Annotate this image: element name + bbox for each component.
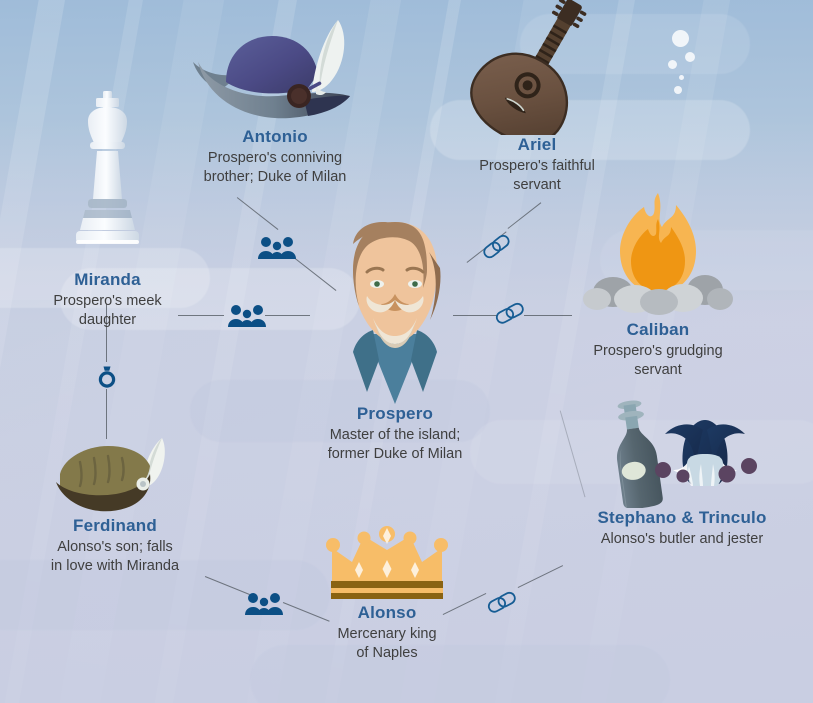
bubble-icon [685,52,695,62]
character-caliban[interactable]: Caliban Prospero's grudging servant [563,185,753,379]
relationship-icon-love-miranda-ferdinand [97,365,117,394]
character-alonso[interactable]: Alonso Mercenary king of Naples [292,518,482,662]
character-name: Antonio [180,127,370,147]
character-name: Caliban [563,320,753,340]
character-name: Alonso [292,603,482,623]
family-group-icon [228,304,266,328]
character-name: Stephano & Trinculo [552,508,812,528]
character-antonio[interactable]: Antonio Prospero's conniving brother; Du… [180,12,370,186]
character-desc: Master of the island; former Duke of Mil… [290,426,500,463]
white-chess-king-icon [58,85,158,270]
character-desc: Prospero's grudging servant [563,342,753,379]
bottle-and-jester-hat-icon [587,398,777,508]
relationship-icon-family-ferdinand-alonso [245,592,283,621]
family-group-icon [245,592,283,616]
plumed-hat-icon [188,12,363,127]
character-desc: Mercenary king of Naples [292,625,482,662]
character-desc: Prospero's meek daughter [10,292,205,329]
bubble-icon [679,75,684,80]
character-name: Ariel [442,135,632,155]
infographic-canvas: Miranda Prospero's meek daughter [0,0,813,703]
lute-icon [445,0,630,135]
relationship-icon-family-miranda-prospero [228,304,266,333]
character-name: Prospero [290,404,500,424]
bubble-icon [668,60,677,69]
character-desc: Prospero's conniving brother; Duke of Mi… [180,149,370,186]
feathered-cap-icon [40,436,190,516]
character-ariel[interactable]: Ariel Prospero's faithful servant [442,0,632,194]
character-stephano-trinculo[interactable]: Stephano & Trinculo Alonso's butler and … [552,398,812,549]
gold-crown-icon [322,518,452,603]
character-desc: Alonso's butler and jester [552,530,812,549]
character-miranda[interactable]: Miranda Prospero's meek daughter [10,85,205,329]
campfire-icon [583,185,733,320]
bubble-icon [672,30,689,47]
character-ferdinand[interactable]: Ferdinand Alonso's son; falls in love wi… [20,436,210,575]
character-desc: Alonso's son; falls in love with Miranda [20,538,210,575]
ring-icon [97,365,117,389]
bubble-icon [674,86,682,94]
character-name: Ferdinand [20,516,210,536]
bearded-man-portrait-icon [325,222,465,404]
character-prospero[interactable]: Prospero Master of the island; former Du… [290,222,500,463]
character-name: Miranda [10,270,205,290]
